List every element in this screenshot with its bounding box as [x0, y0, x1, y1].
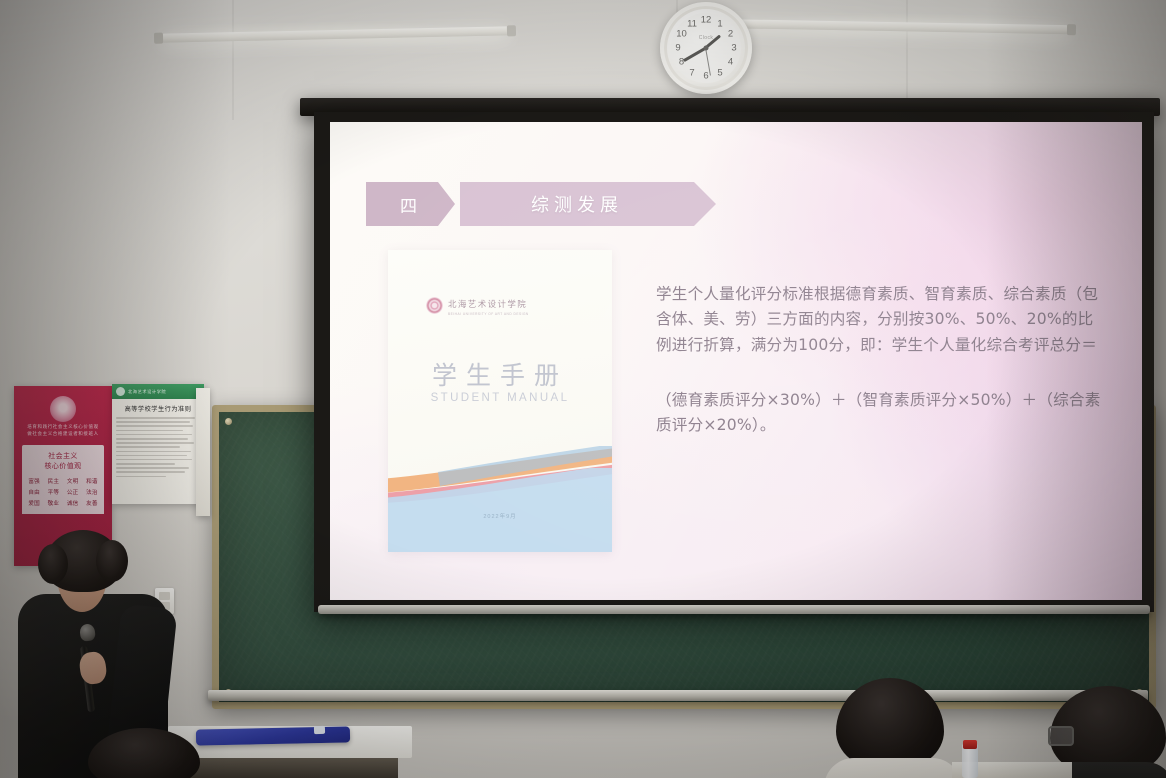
audience-head: [836, 678, 944, 770]
wall-clock: Clock 12 1 2 3 4 5 6 7 8 9 10 11: [660, 2, 752, 94]
clock-center-pin: [704, 46, 709, 51]
chapter-title-block: 综测发展: [460, 182, 694, 226]
water-bottle: [962, 744, 978, 778]
blue-folder-label: [314, 726, 325, 734]
audience-shoulders: [824, 758, 962, 778]
book-subtitle: STUDENT MANUAL: [388, 392, 612, 404]
clock-number: 4: [728, 57, 733, 68]
clock-number: 2: [728, 29, 733, 40]
clock-number: 1: [717, 18, 722, 29]
audience-member-center: [828, 678, 956, 778]
wall-shadow-left: [0, 0, 230, 778]
water-bottle-cap: [963, 740, 977, 749]
clock-number: 6: [703, 71, 708, 82]
book-title: 学生手册: [388, 356, 612, 392]
clock-number: 7: [689, 67, 694, 78]
clock-number: 11: [687, 18, 697, 29]
classroom-scene: Clock 12 1 2 3 4 5 6 7 8 9 10 11: [0, 0, 1166, 778]
wall-seam: [232, 0, 234, 120]
university-name-cn: 北海艺术设计学院: [448, 300, 527, 310]
clock-number: 3: [731, 43, 736, 54]
book-ribbon-fill-svg: [388, 468, 612, 552]
chapter-number-block: 四: [366, 182, 438, 226]
clock-number: 10: [676, 29, 687, 40]
clock-number: 8: [679, 57, 684, 68]
chapter-number-text: 四: [400, 192, 418, 217]
university-name-en: BEIHAI UNIVERSITY OF ART AND DESIGN: [448, 312, 529, 316]
clock-face: Clock 12 1 2 3 4 5 6 7 8 9 10 11: [671, 13, 741, 83]
clock-number: 12: [701, 15, 712, 26]
book-date: 2022年9月: [388, 512, 612, 520]
clock-number: 5: [717, 67, 722, 78]
student-manual-book-cover: 北海艺术设计学院 BEIHAI UNIVERSITY OF ART AND DE…: [388, 250, 612, 552]
clock-number: 9: [675, 43, 680, 54]
book-ribbon-fill: [388, 468, 612, 552]
university-logo-mark: [426, 297, 443, 314]
wall-shadow-right: [986, 0, 1166, 778]
chapter-title-text: 综测发展: [531, 191, 623, 217]
university-logo-text-group: 北海艺术设计学院 BEIHAI UNIVERSITY OF ART AND DE…: [448, 294, 529, 316]
university-logo: 北海艺术设计学院 BEIHAI UNIVERSITY OF ART AND DE…: [426, 294, 529, 316]
slide-chapter-banner: 四 综测发展: [366, 182, 694, 226]
